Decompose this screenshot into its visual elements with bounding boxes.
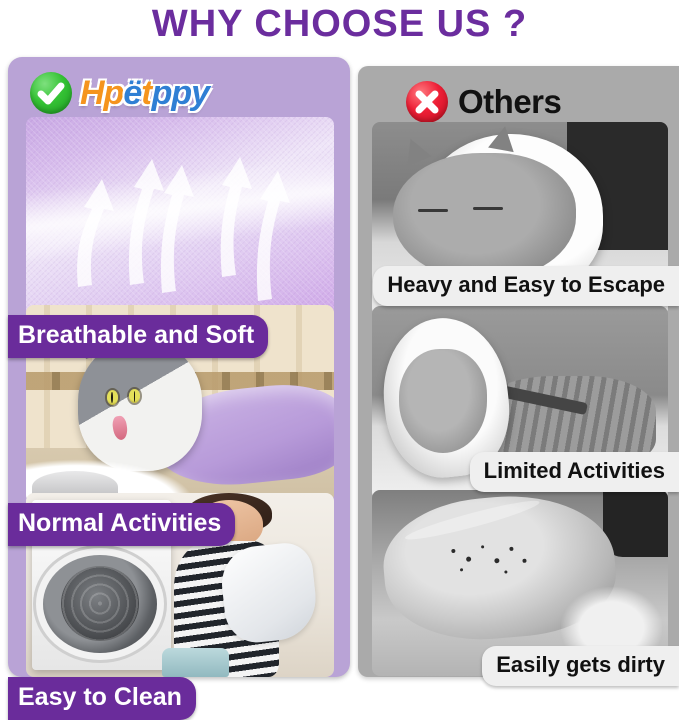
others-label: Others bbox=[458, 80, 561, 124]
clean-towel bbox=[218, 540, 320, 645]
washer-drum bbox=[61, 566, 138, 641]
cat-eye-closed-right bbox=[473, 207, 502, 210]
laundry-basket bbox=[162, 648, 230, 677]
breathable-fabric-photo bbox=[26, 117, 334, 317]
fabric-fold bbox=[403, 496, 540, 545]
good-caption-1: Breathable and Soft bbox=[8, 315, 268, 358]
brand-logo-part3: t bbox=[141, 74, 151, 112]
brand-logo-part4: ppy bbox=[152, 74, 209, 112]
good-caption-3: Easy to Clean bbox=[8, 677, 196, 720]
washer-door bbox=[43, 555, 157, 653]
bad-caption-2: Limited Activities bbox=[470, 452, 679, 492]
cat-face bbox=[393, 153, 577, 281]
brand-logo: Hpëtppy bbox=[80, 71, 209, 115]
good-caption-2: Normal Activities bbox=[8, 503, 235, 546]
dark-background-block bbox=[603, 490, 668, 557]
cat-head bbox=[399, 349, 488, 454]
others-panel: Others Heavy and Easy to Escape bbox=[358, 66, 679, 677]
cat-tongue bbox=[111, 416, 128, 441]
fabric-illustration bbox=[26, 117, 334, 317]
cat-eye-closed-left bbox=[418, 209, 447, 212]
cat-ear-right bbox=[489, 124, 519, 152]
comparison-infographic: WHY CHOOSE US ? Hpëtppy bbox=[0, 0, 679, 681]
cat-ear-left bbox=[398, 134, 431, 166]
cat-head bbox=[78, 341, 201, 472]
brand-panel: Hpëtppy Breathable and Soft bbox=[8, 57, 350, 677]
cat-eye-left bbox=[107, 390, 118, 404]
bad-caption-1: Heavy and Easy to Escape bbox=[373, 266, 679, 306]
brand-logo-part1: Hp bbox=[80, 74, 123, 112]
brand-logo-part2: ë bbox=[123, 74, 141, 112]
others-header: Others bbox=[406, 80, 561, 124]
page-title: WHY CHOOSE US ? bbox=[0, 2, 679, 46]
brand-header: Hpëtppy bbox=[30, 71, 209, 115]
check-circle-icon bbox=[30, 72, 72, 114]
airflow-arrows-icon bbox=[26, 117, 334, 317]
cross-circle-icon bbox=[406, 81, 448, 123]
cat-eye-right bbox=[129, 389, 140, 403]
bad-caption-3: Easily gets dirty bbox=[482, 646, 679, 686]
